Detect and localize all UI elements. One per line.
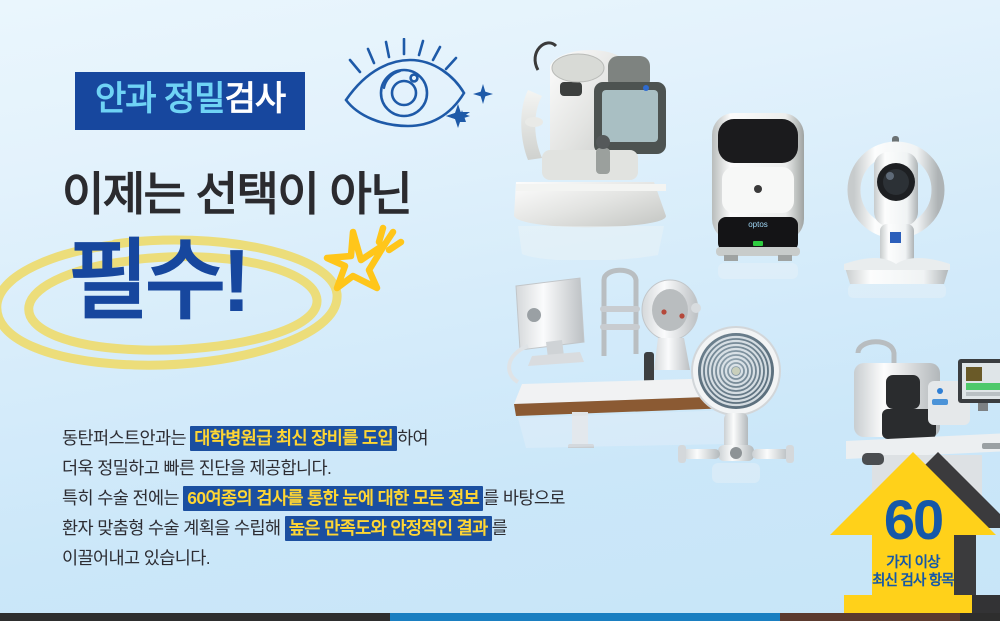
- bottom-strip: [0, 613, 1000, 621]
- body-seg: 더욱 정밀하고 빠른 진단을 제공합니다.: [62, 458, 331, 478]
- body-seg: 환자 맞춤형 수술 계획을 수립해: [62, 518, 285, 538]
- headline-line1: 이제는 선택이 아닌: [62, 158, 411, 224]
- body-seg: 동탄퍼스트안과는: [62, 428, 190, 448]
- body-seg: 하여: [397, 428, 428, 448]
- emphasis-text: 필수!: [68, 237, 247, 325]
- bottom-strip-segment-3: [780, 613, 960, 621]
- bottom-strip-segment-1: [0, 613, 390, 621]
- zeiss-biometer: [828, 128, 968, 298]
- oct-scanner: optos: [698, 105, 818, 280]
- bottom-strip-segment-4: [960, 613, 1000, 621]
- badge-text-part1: 안과: [95, 80, 164, 118]
- star-doodle-icon: [315, 222, 411, 302]
- bottom-strip-segment-2: [390, 613, 780, 621]
- topographer: [676, 325, 796, 485]
- body-highlight: 60여종의 검사를 통한 눈에 대한 모든 정보: [183, 486, 483, 511]
- badge-text-part3: 검사: [225, 80, 286, 118]
- body-seg: 이끌어내고 있습니다.: [62, 548, 210, 568]
- body-seg: 특히 수술 전에는: [62, 488, 183, 508]
- badge-text-part2: 정밀: [164, 80, 225, 118]
- category-badge: 안과 정밀검사: [75, 72, 305, 130]
- svg-text:optos: optos: [748, 220, 768, 229]
- fundus-camera: [498, 30, 698, 260]
- promo-banner: 안과 정밀검사 이제는 선택이 아닌 필수! 동탄퍼스트안과는 대학병원급 최신…: [0, 0, 1000, 621]
- body-highlight: 대학병원급 최신 장비를 도입: [190, 426, 397, 451]
- body-highlight: 높은 만족도와 안정적인 결과: [285, 516, 492, 541]
